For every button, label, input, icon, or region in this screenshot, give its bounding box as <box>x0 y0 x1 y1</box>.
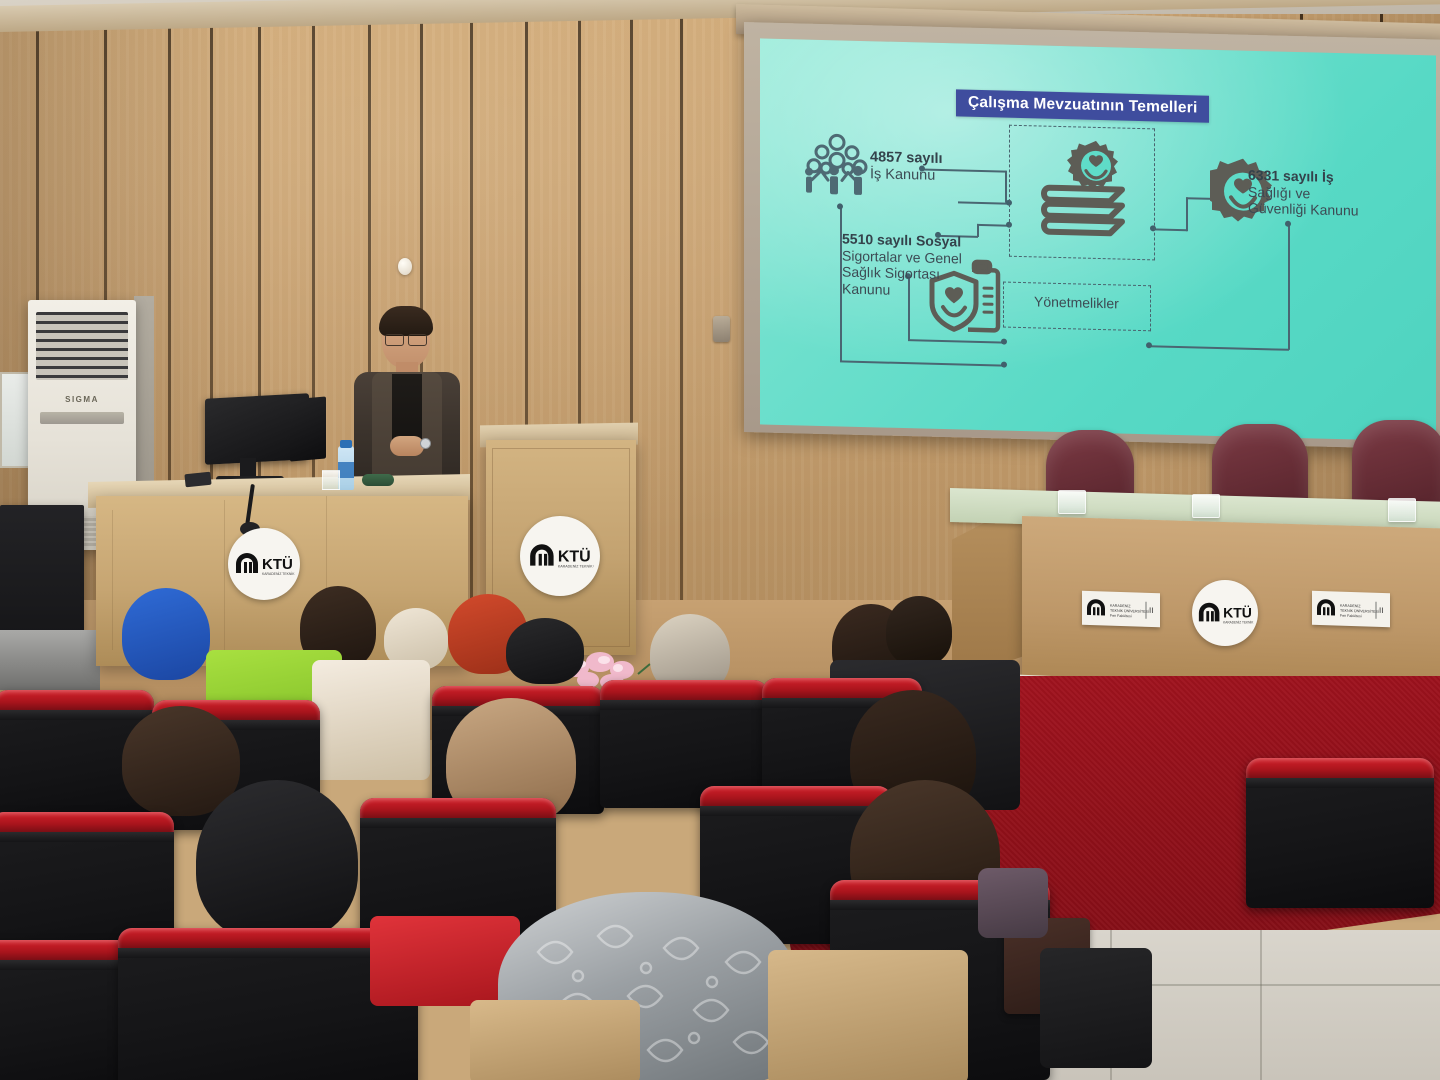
audience-tan-jacket <box>470 1000 640 1080</box>
svg-text:KARADENİZ: KARADENİZ <box>1340 603 1361 609</box>
tile-seam <box>1260 930 1262 1080</box>
water-bottle <box>338 446 354 490</box>
wristwatch-icon <box>420 438 431 449</box>
svg-text:II: II <box>1379 606 1383 615</box>
slide-label-6331: 6331 sayılı İş Sağlığı ve Güvenliği Kanu… <box>1248 167 1359 219</box>
chair-rim <box>600 680 768 702</box>
svg-text:KARADENİZ TEKNİK ÜNİ.: KARADENİZ TEKNİK ÜNİ. <box>1223 619 1254 624</box>
connector-line <box>840 360 1004 366</box>
connector-line <box>977 224 1009 226</box>
svg-text:KTÜ: KTÜ <box>262 556 293 573</box>
connector-dot <box>1285 221 1291 227</box>
panel-chair <box>1352 420 1440 506</box>
audience-head-dark-coat <box>506 618 584 684</box>
chair-rim-shadow <box>0 710 154 720</box>
connector-line <box>1153 228 1187 230</box>
ktu-sign-right: KARADENİZ TEKNİK ÜNİVERSİTESİ Fen Fakült… <box>1312 591 1390 627</box>
drinking-glass <box>322 470 340 490</box>
equipment-trolley <box>0 630 100 690</box>
chair-rim <box>360 798 556 820</box>
svg-text:KARADENİZ TEKNİK ÜNİ.: KARADENİZ TEKNİK ÜNİ. <box>558 564 594 569</box>
conference-hall-photo: Çalışma Mevzuatının Temelleri <box>0 0 1440 1080</box>
connector-dot <box>837 203 843 209</box>
svg-text:KARADENİZ: KARADENİZ <box>1110 603 1131 609</box>
books-gear-icon <box>1036 137 1134 248</box>
chair-rim <box>700 786 892 808</box>
slide-label-4857: 4857 sayılı İş Kanunu <box>870 149 943 185</box>
connector-dot <box>1146 342 1152 348</box>
connector-dot <box>1001 362 1007 368</box>
connector-line <box>1288 224 1290 350</box>
chair-rim-shadow <box>600 700 768 710</box>
speaker-shirt <box>392 374 422 444</box>
panel-glass <box>1192 494 1220 518</box>
panel-glass <box>1388 498 1416 522</box>
ac-control-strip <box>40 412 124 424</box>
connector-line <box>1149 345 1289 350</box>
ktu-logo-lectern: KTÜ KARADENİZ TEKNİK ÜNİ. <box>520 516 600 596</box>
wall-sensor-icon <box>713 316 730 342</box>
slide-title: Çalışma Mevzuatının Temelleri <box>956 89 1209 122</box>
panel-glass <box>1058 490 1086 514</box>
chair-rim-shadow <box>0 832 174 842</box>
speaker-hair <box>379 306 433 336</box>
projection-screen: Çalışma Mevzuatının Temelleri <box>760 38 1436 441</box>
chair-rim-shadow <box>1246 778 1434 788</box>
svg-text:KTÜ: KTÜ <box>1223 605 1252 621</box>
bottle-label <box>338 462 354 478</box>
speaker-hands <box>390 436 424 456</box>
audience-head-dark-hair <box>886 596 952 666</box>
svg-text:II: II <box>1149 606 1153 615</box>
speaker-presenter <box>352 310 462 490</box>
chair-rim <box>0 812 174 834</box>
ac-brand-label: SIGMA <box>28 395 136 404</box>
mobile-phone <box>184 472 211 488</box>
draped-black-coat <box>1040 948 1152 1068</box>
svg-text:Fen Fakültesi: Fen Fakültesi <box>1340 614 1362 619</box>
ktu-sign-left: KARADENİZ TEKNİK ÜNİVERSİTESİ Fen Fakült… <box>1082 591 1160 627</box>
ktu-logo-desk: KTÜ KARADENİZ TEKNİK ÜNİ. <box>228 528 300 600</box>
audience-purple-garment <box>978 868 1048 938</box>
slide-label-yonetmelikler: Yönetmelikler <box>1034 293 1119 312</box>
presentation-slide: Çalışma Mevzuatının Temelleri <box>760 38 1436 441</box>
chair-rim <box>0 690 154 712</box>
ac-vents-icon <box>36 312 128 380</box>
desk-panel-line <box>224 500 225 650</box>
secondary-monitor <box>290 396 326 461</box>
projection-screen-frame: Çalışma Mevzuatının Temelleri <box>744 22 1440 450</box>
chair-rim <box>1246 758 1434 780</box>
svg-text:KTÜ: KTÜ <box>558 546 591 565</box>
audience-head-black-headscarf <box>196 780 358 942</box>
audience-head-headscarf-blue <box>122 588 210 680</box>
people-gears-icon <box>800 127 874 202</box>
connector-line <box>1005 171 1007 203</box>
bottle-cap <box>340 440 352 448</box>
svg-text:Fen Fakültesi: Fen Fakültesi <box>1110 614 1132 619</box>
ktu-logo-panel-center: KTÜ KARADENİZ TEKNİK ÜNİ. <box>1192 580 1258 646</box>
wall-speaker-dot-icon <box>398 258 412 275</box>
eyeglasses-icon <box>385 334 427 344</box>
connector-line <box>958 201 1010 204</box>
connector-line <box>977 224 979 237</box>
auditorium-chair <box>1246 758 1434 908</box>
slide-label-5510: 5510 sayılı Sosyal Sigortalar ve Genel S… <box>842 230 962 299</box>
svg-text:KARADENİZ TEKNİK ÜNİ.: KARADENİZ TEKNİK ÜNİ. <box>262 571 295 576</box>
desk-object <box>362 474 394 486</box>
connector-line <box>1186 197 1188 231</box>
audience-fur-jacket <box>312 660 430 780</box>
audience-tan-jacket <box>768 950 968 1080</box>
desk-panel-line <box>112 510 113 650</box>
chair-rim-shadow <box>360 818 556 828</box>
